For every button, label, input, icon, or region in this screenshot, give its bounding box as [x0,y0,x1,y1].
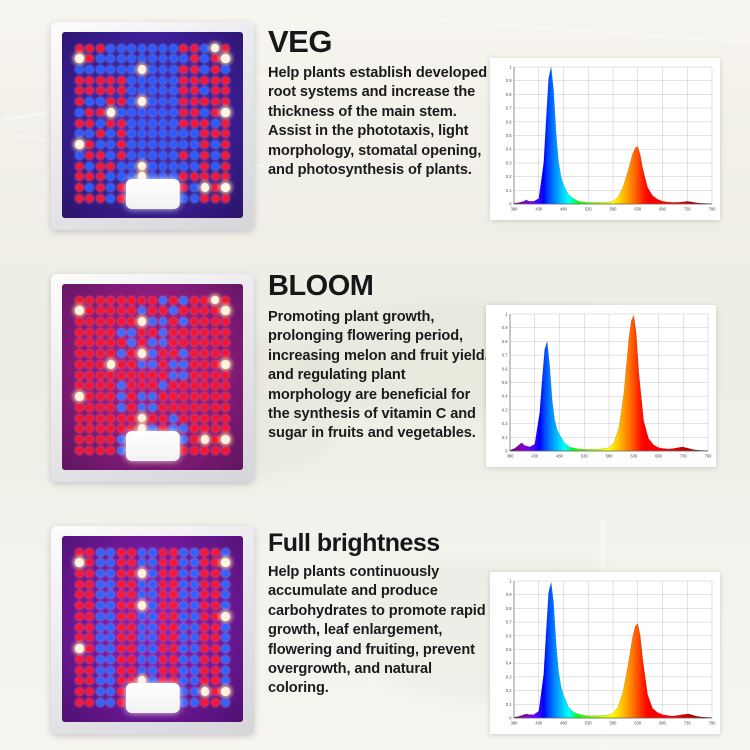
led-diode [76,591,83,598]
led-diode [191,645,198,652]
led-diode [180,152,187,159]
led-diode [139,45,146,52]
led-diode [97,318,104,325]
led-diode [201,549,208,556]
led-diode [76,677,83,684]
led-diode [97,656,104,663]
led-diode [107,98,114,105]
led-diode [191,699,198,706]
led-diode [118,677,125,684]
led-diode [191,447,198,454]
led-diode [128,163,135,170]
led-diode [191,677,198,684]
led-diode [139,645,146,652]
led-diode [212,195,219,202]
led-diode [180,130,187,137]
led-diode [160,581,167,588]
led-diode [222,87,229,94]
led-diode [222,425,229,432]
svg-text:0.5: 0.5 [506,647,512,652]
led-diode [201,195,208,202]
led-diode [212,581,219,588]
led-diode [86,163,93,170]
led-diode [97,591,104,598]
led-diode [107,667,114,674]
led-diode [97,55,104,62]
led-diode [138,317,146,326]
led-diode [212,591,219,598]
led-diode [86,361,93,368]
led-diode [170,307,177,314]
led-diode [128,98,135,105]
led-diode [212,447,219,454]
led-diode [86,130,93,137]
led-diode [170,130,177,137]
led-diode [76,195,83,202]
led-diode [191,87,198,94]
led-diode [107,415,114,422]
led-diode [128,393,135,400]
led-diode [160,634,167,641]
led-diode [160,55,167,62]
led-diode [139,613,146,620]
led-diode [191,549,198,556]
led-diode [170,634,177,641]
led-diode [107,602,114,609]
led-diode [212,393,219,400]
led-diode [201,77,208,84]
led-diode [97,329,104,336]
led-diode [118,350,125,357]
led-diode [160,656,167,663]
led-diode [201,152,208,159]
led-diode [191,602,198,609]
svg-text:0.4: 0.4 [506,661,512,666]
led-diode [149,109,156,116]
led-diode [97,372,104,379]
led-diode [222,318,229,325]
led-diode [191,98,198,105]
led-diode [149,120,156,127]
led-diode [222,350,229,357]
led-diode [149,141,156,148]
led-diode [170,318,177,325]
led-diode [180,634,187,641]
led-diode [180,393,187,400]
spectrum-chart-bloom-svg: 00.10.20.30.40.50.60.70.80.9138043048053… [486,305,716,467]
led-diode [128,570,135,577]
led-diode [128,152,135,159]
led-diode [221,687,229,696]
led-diode [107,613,114,620]
svg-text:680: 680 [659,721,667,726]
led-diode [201,55,208,62]
led-diode [118,329,125,336]
led-diode [149,361,156,368]
led-diode [191,141,198,148]
svg-text:0.6: 0.6 [502,366,508,371]
led-diode [222,415,229,422]
led-diode [160,77,167,84]
led-diode [107,447,114,454]
led-diode [149,297,156,304]
led-diode [139,152,146,159]
led-diode [86,45,93,52]
led-diode [160,152,167,159]
led-diode [86,77,93,84]
svg-text:0.7: 0.7 [506,620,512,625]
led-diode [118,152,125,159]
led-diode [149,645,156,652]
led-diode [212,307,219,314]
led-diode [149,613,156,620]
led-diode [160,372,167,379]
led-diode [107,173,114,180]
led-diode [191,667,198,674]
led-diode [118,645,125,652]
svg-text:0.3: 0.3 [506,674,512,679]
led-diode [212,415,219,422]
led-diode [149,318,156,325]
led-diode [201,141,208,148]
led-diode [221,306,229,315]
svg-text:0.7: 0.7 [502,353,508,358]
led-diode [86,120,93,127]
led-diode [170,55,177,62]
led-diode [222,549,229,556]
svg-text:0.5: 0.5 [506,133,512,138]
led-diode [128,549,135,556]
led-diode [76,624,83,631]
led-diode [76,350,83,357]
svg-text:680: 680 [655,454,663,459]
led-diode [180,645,187,652]
svg-text:0.2: 0.2 [506,174,512,179]
led-diode [170,602,177,609]
led-diode [222,645,229,652]
led-diode [139,404,146,411]
led-diode [128,87,135,94]
led-diode [222,297,229,304]
led-diode [170,559,177,566]
led-diode [118,667,125,674]
led-diode [212,372,219,379]
led-diode [128,45,135,52]
led-diode [118,404,125,411]
svg-text:1: 1 [505,312,508,317]
led-diode [222,120,229,127]
led-diode [222,570,229,577]
led-diode [107,195,114,202]
led-diode [212,163,219,170]
led-diode [222,602,229,609]
led-diode [76,667,83,674]
led-diode [97,393,104,400]
led-diode [128,634,135,641]
led-diode [201,109,208,116]
led-diode [170,361,177,368]
led-diode [149,667,156,674]
svg-text:380: 380 [507,454,515,459]
led-diode [75,392,83,401]
led-diode [76,634,83,641]
led-diode [97,130,104,137]
led-diode [212,634,219,641]
spectrum-chart-veg: 00.10.20.30.40.50.60.70.80.9138043048053… [490,58,720,220]
led-diode [222,624,229,631]
led-diode [149,66,156,73]
led-diode [212,87,219,94]
led-diode [160,130,167,137]
led-diode [139,141,146,148]
led-diode [212,624,219,631]
led-diode [191,120,198,127]
svg-text:430: 430 [535,207,543,212]
led-diode [191,318,198,325]
led-diode [149,329,156,336]
led-diode [201,297,208,304]
led-diode [222,339,229,346]
led-diode [170,329,177,336]
led-diode [191,307,198,314]
led-diode [222,656,229,663]
svg-text:0.6: 0.6 [506,119,512,124]
led-diode [191,613,198,620]
led-diode [76,549,83,556]
led-diode [86,581,93,588]
led-diode [222,393,229,400]
led-diode [180,173,187,180]
svg-text:0.8: 0.8 [506,92,512,97]
led-diode [76,77,83,84]
led-diode [139,329,146,336]
led-diode [139,130,146,137]
led-diode [149,581,156,588]
led-diode [170,404,177,411]
led-diode [128,55,135,62]
led-diode [180,109,187,116]
led-diode [97,361,104,368]
led-diode [212,570,219,577]
led-diode [201,173,208,180]
led-diode [180,425,187,432]
svg-text:0.3: 0.3 [502,407,508,412]
led-diode [212,559,219,566]
led-diode [191,173,198,180]
led-diode [86,613,93,620]
led-diode [170,297,177,304]
led-diode [107,152,114,159]
led-diode [118,339,125,346]
led-diode [149,55,156,62]
led-diode [160,297,167,304]
led-diode [149,87,156,94]
led-diode [118,120,125,127]
led-diode [76,613,83,620]
led-diode [170,339,177,346]
led-diode [139,297,146,304]
led-diode [118,163,125,170]
led-diode [118,141,125,148]
led-diode [128,297,135,304]
panel-label-badge [125,431,179,461]
led-diode [118,415,125,422]
led-diode [201,350,208,357]
led-diode [128,645,135,652]
led-diode [86,436,93,443]
led-diode [138,162,146,171]
led-diode [149,624,156,631]
led-diode [118,613,125,620]
svg-text:730: 730 [680,454,688,459]
svg-text:530: 530 [585,207,593,212]
led-diode [139,339,146,346]
led-diode [160,339,167,346]
svg-text:0.9: 0.9 [502,325,508,330]
led-diode [86,404,93,411]
led-diode [128,404,135,411]
led-diode [212,425,219,432]
led-diode [86,141,93,148]
led-diode [222,329,229,336]
led-diode [118,624,125,631]
led-diode [128,307,135,314]
led-diode [149,98,156,105]
led-diode [139,77,146,84]
led-diode [160,382,167,389]
led-diode [212,109,219,116]
led-diode [107,677,114,684]
led-diode [201,591,208,598]
led-diode [139,656,146,663]
led-diode [212,98,219,105]
led-diode [212,677,219,684]
led-diode [180,549,187,556]
svg-text:1: 1 [509,65,512,70]
led-diode [97,339,104,346]
led-diode [118,688,125,695]
led-diode [222,77,229,84]
led-diode [149,372,156,379]
led-diode [212,184,219,191]
svg-text:730: 730 [684,207,692,212]
led-diode [138,65,146,74]
led-diode [211,296,219,305]
led-diode [170,120,177,127]
led-diode [201,329,208,336]
led-diode [201,415,208,422]
led-diode [128,350,135,357]
panel-label-badge [125,683,179,713]
led-diode [107,77,114,84]
led-diode [201,66,208,73]
led-diode [221,54,229,63]
led-diode [170,624,177,631]
led-diode [222,372,229,379]
led-diode [138,569,146,578]
led-diode [212,667,219,674]
led-diode [201,318,208,325]
led-diode [118,318,125,325]
led-diode [107,688,114,695]
section-body-veg: Help plants establish developed root sys… [268,64,490,180]
svg-text:1: 1 [509,579,512,584]
led-diode [180,570,187,577]
led-diode [191,109,198,116]
led-diode [170,393,177,400]
led-diode [160,559,167,566]
led-diode [86,425,93,432]
led-diode [107,66,114,73]
led-diode [201,87,208,94]
led-diode [149,350,156,357]
led-diode [86,195,93,202]
led-diode [160,415,167,422]
led-diode [191,393,198,400]
led-diode [201,307,208,314]
led-diode [128,339,135,346]
led-diode [170,549,177,556]
led-diode [201,382,208,389]
led-diode [97,699,104,706]
led-diode [97,66,104,73]
svg-text:0.9: 0.9 [506,592,512,597]
led-diode [107,297,114,304]
led-diode [76,87,83,94]
led-diode [170,77,177,84]
led-diode [76,602,83,609]
svg-text:0.4: 0.4 [502,394,508,399]
led-diode [86,98,93,105]
led-diode [180,120,187,127]
led-diode [107,55,114,62]
svg-text:0.5: 0.5 [502,380,508,385]
section-full-brightness: Full brightness Help plants continuously… [0,504,750,750]
led-diode [76,329,83,336]
led-diode [97,415,104,422]
led-diode [118,307,125,314]
led-diode [139,634,146,641]
veg-text-block: VEG Help plants establish developed root… [268,26,490,180]
led-diode [180,361,187,368]
led-diode [149,415,156,422]
led-diode [97,645,104,652]
led-diode [75,558,83,567]
led-diode [107,184,114,191]
led-diode [107,87,114,94]
led-diode [139,55,146,62]
svg-text:0.2: 0.2 [506,688,512,693]
led-diode [107,130,114,137]
led-diode [138,601,146,610]
led-diode [86,699,93,706]
led-diode [201,120,208,127]
led-diode [76,152,83,159]
led-diode [180,382,187,389]
svg-text:0.1: 0.1 [502,435,508,440]
led-diode [201,447,208,454]
led-diode [222,66,229,73]
led-diode [180,350,187,357]
led-diode [170,581,177,588]
led-diode [212,173,219,180]
led-diode [128,613,135,620]
led-diode [128,624,135,631]
led-diode [212,382,219,389]
led-diode [107,108,115,117]
led-diode [149,307,156,314]
led-diode [107,624,114,631]
